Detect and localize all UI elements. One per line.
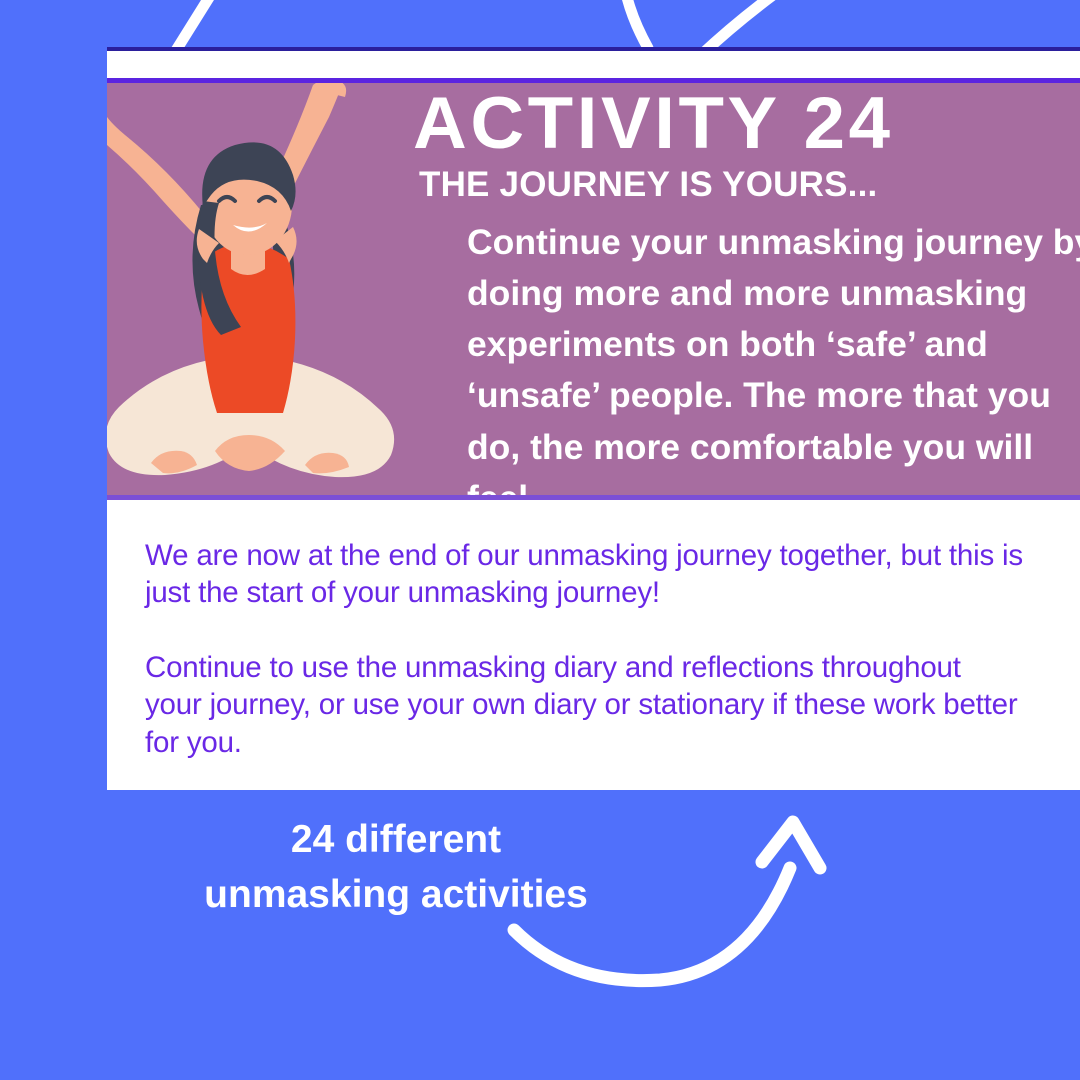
activity-title: ACTIVITY 24: [413, 89, 1080, 159]
activity-subtitle: THE JOURNEY IS YOURS...: [419, 165, 1080, 205]
activity-banner-body: Continue your unmasking journey by doing…: [467, 217, 1080, 500]
card-rule-top: [107, 47, 1080, 51]
worksheet-paragraph-1: We are now at the end of our unmasking j…: [145, 537, 1025, 611]
card-top-spacer: [107, 47, 1080, 83]
worksheet-body-text: We are now at the end of our unmasking j…: [107, 505, 1080, 792]
activity-banner: ACTIVITY 24 THE JOURNEY IS YOURS... Cont…: [107, 83, 1080, 500]
caption-line-2: unmasking activities: [140, 867, 652, 922]
banner-bottom-rule: [107, 495, 1080, 500]
caption-line-1: 24 different: [140, 812, 652, 867]
worksheet-card: ACTIVITY 24 THE JOURNEY IS YOURS... Cont…: [107, 47, 1080, 792]
caption-text: 24 different unmasking activities: [140, 812, 652, 923]
promo-canvas: ACTIVITY 24 THE JOURNEY IS YOURS... Cont…: [0, 0, 1080, 1080]
banner-text-column: ACTIVITY 24 THE JOURNEY IS YOURS... Cont…: [343, 89, 1080, 500]
worksheet-paragraph-2: Continue to use the unmasking diary and …: [145, 649, 1025, 760]
caption-band: 24 different unmasking activities: [0, 790, 1080, 1080]
